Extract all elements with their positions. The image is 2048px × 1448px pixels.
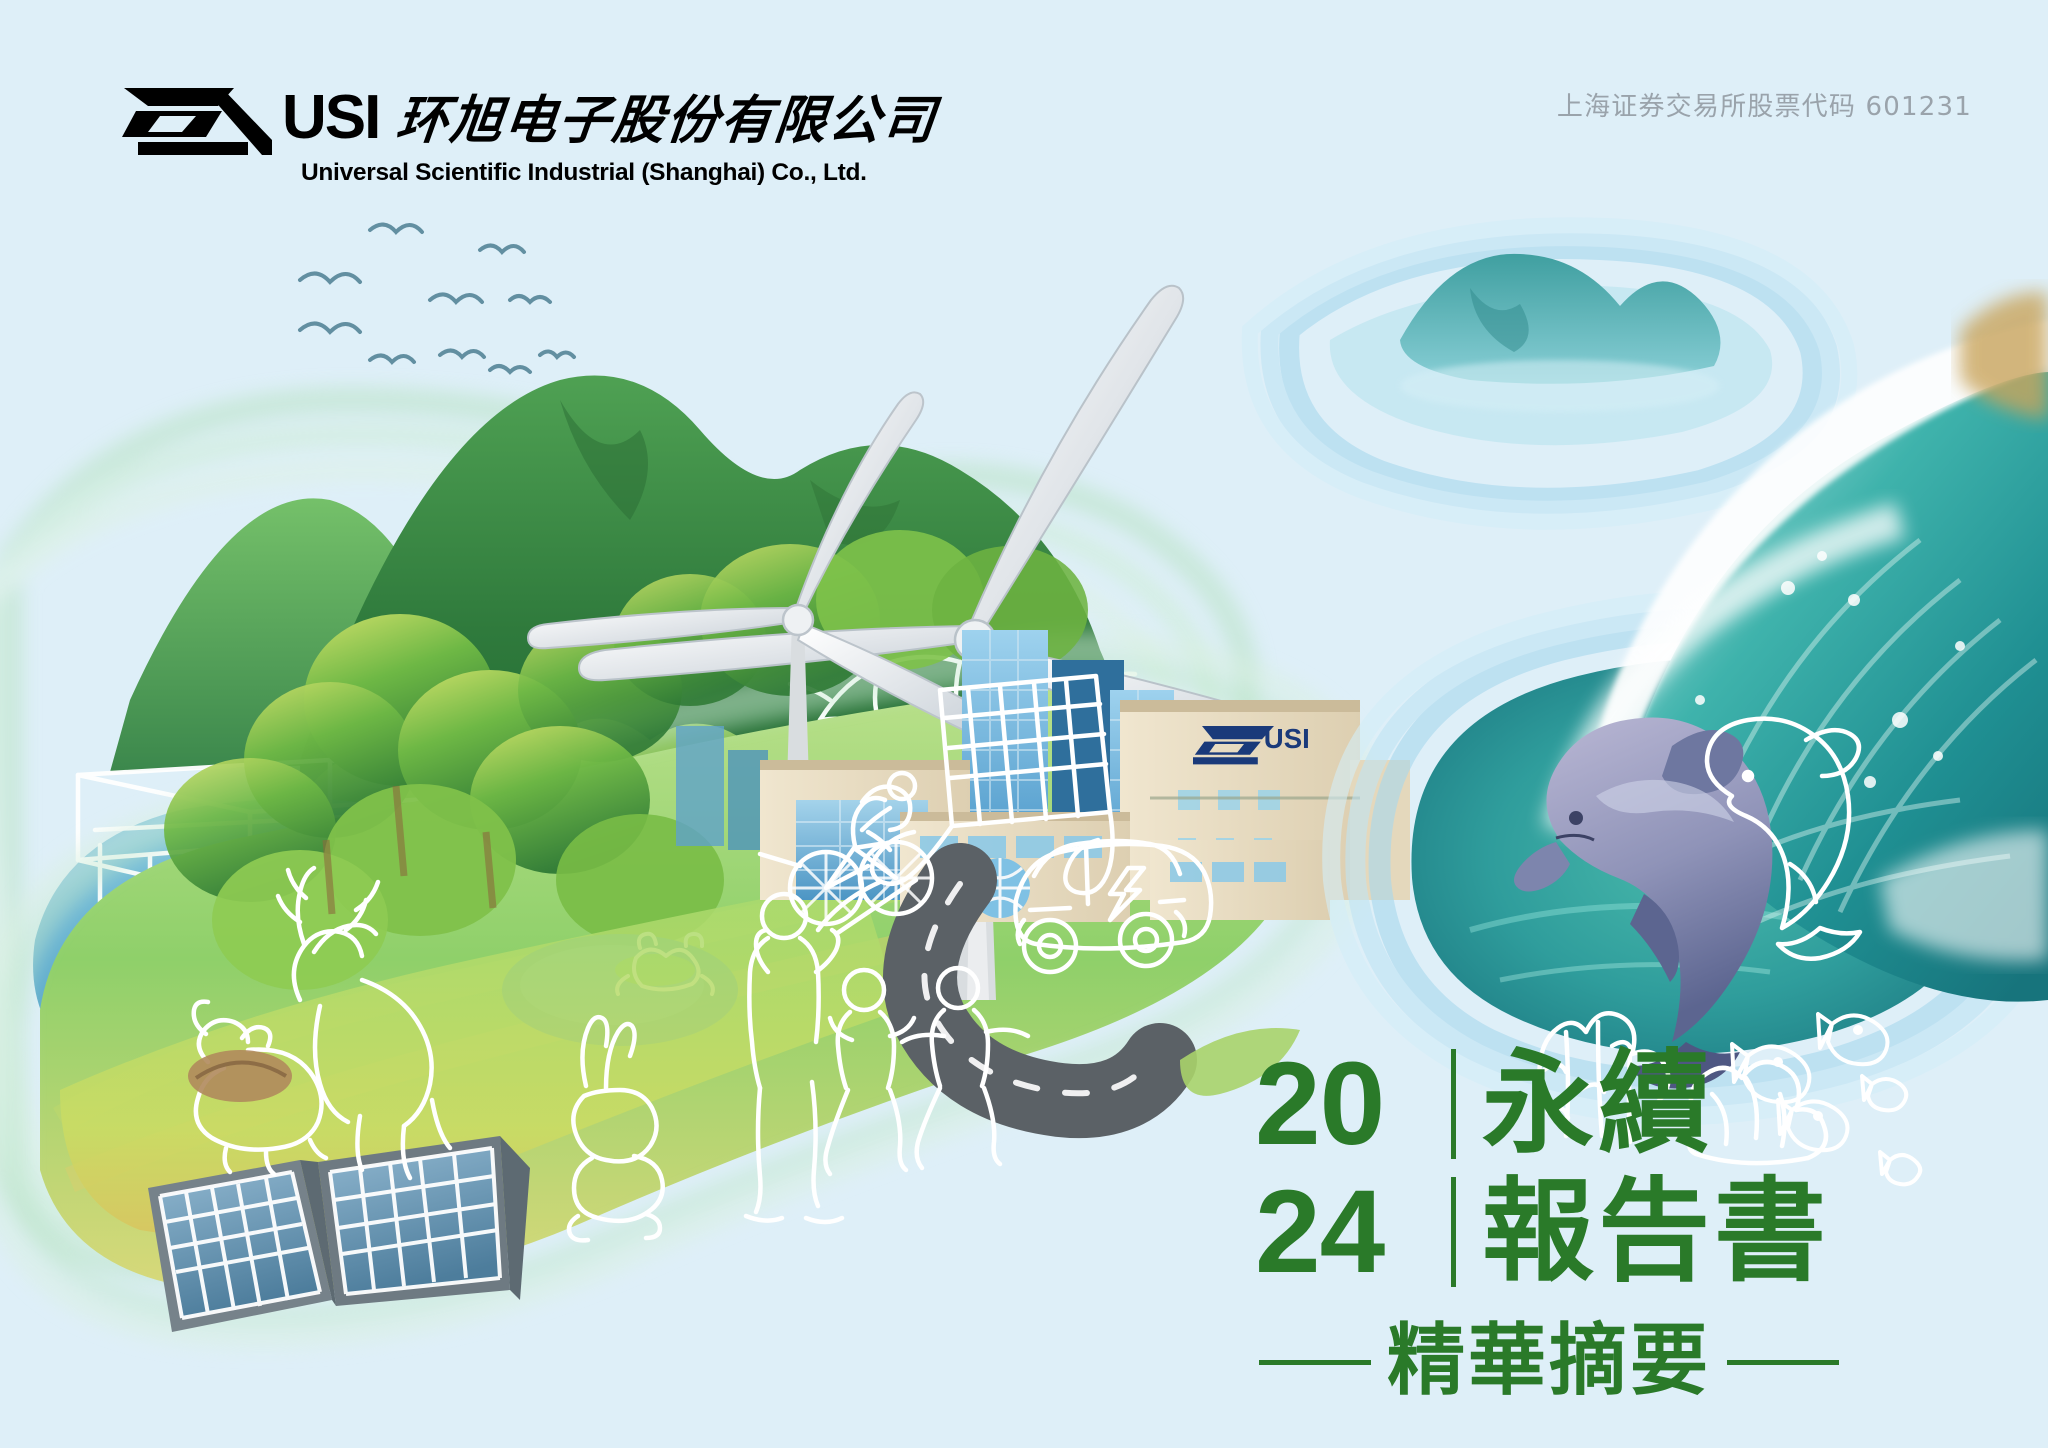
logo-text-group: USI 环旭电子股份有限公司 Universal Scientific Indu… <box>282 78 937 187</box>
logo-company-name-cn: 环旭电子股份有限公司 <box>393 78 941 153</box>
year-top: 20 <box>1255 1045 1445 1163</box>
title-subtitle: 精華摘要 <box>1387 1298 1711 1410</box>
stock-code-note: 上海证券交易所股票代码 601231 <box>1557 86 1972 123</box>
logo-acronym: USI <box>282 89 379 148</box>
subtitle-rule-right <box>1727 1360 1839 1365</box>
svg-text:USI: USI <box>1264 723 1310 754</box>
usi-company-logo[interactable]: USI 环旭电子股份有限公司 Universal Scientific Indu… <box>122 82 937 187</box>
logo-company-name-en: Universal Scientific Industrial (Shangha… <box>301 159 937 187</box>
title-rows: 20 永續 24 報告書 <box>1255 1040 1839 1296</box>
title-line-1: 永續 <box>1482 1048 1714 1160</box>
right-lowrise-building <box>1150 840 1330 920</box>
cover-header: USI 环旭电子股份有限公司 Universal Scientific Indu… <box>0 0 2048 190</box>
title-subtitle-row: 精華摘要 <box>1255 1306 1839 1418</box>
title-divider-1 <box>1451 1049 1456 1159</box>
title-row-1: 20 永續 <box>1255 1040 1839 1168</box>
cover-page: USI <box>0 0 2048 1448</box>
title-divider-2 <box>1451 1177 1456 1287</box>
subtitle-rule-left <box>1259 1360 1371 1365</box>
turtle <box>188 1050 292 1102</box>
report-title-block: 20 永續 24 報告書 精華摘要 <box>1255 1040 1839 1418</box>
year-bottom: 24 <box>1255 1173 1445 1291</box>
usi-chevron-mark <box>122 82 272 156</box>
title-row-2: 24 報告書 <box>1255 1168 1839 1296</box>
title-line-2: 報告書 <box>1482 1176 1830 1288</box>
